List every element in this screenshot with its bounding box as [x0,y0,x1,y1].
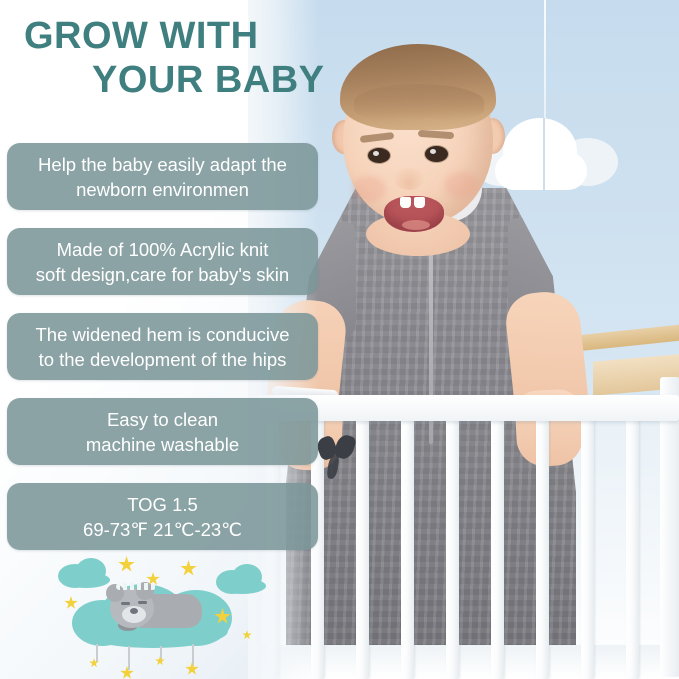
feature-text-line: The widened hem is conducive [15,322,310,347]
feature-text-line: to the development of the hips [15,347,310,372]
feature-box-washable: Easy to clean machine washable [7,398,318,465]
tog-rating: TOG 1.5 [15,492,310,517]
feature-box-material: Made of 100% Acrylic knit soft design,ca… [7,228,318,295]
feature-text-line: Easy to clean [15,407,310,432]
feature-text-line: Made of 100% Acrylic knit [15,237,310,262]
baby-nose [394,168,424,190]
feature-box-tog: TOG 1.5 69-73℉ 21℃-23℃ [7,483,318,550]
feature-text-line: newborn environmen [15,177,310,202]
feature-box-hem: The widened hem is conducive to the deve… [7,313,318,380]
feature-text-line: machine washable [15,432,310,457]
feature-box-list: Help the baby easily adapt the newborn e… [0,0,340,679]
tog-temperature-range: 69-73℉ 21℃-23℃ [15,517,310,542]
feature-box-adapt: Help the baby easily adapt the newborn e… [7,143,318,210]
feature-text-line: soft design,care for baby's skin [15,262,310,287]
infographic-canvas: GROW WITH YOUR BABY Help the baby easily… [0,0,679,679]
baby-eye-right [425,146,448,162]
feature-text-line: Help the baby easily adapt the [15,152,310,177]
baby-hair [340,44,496,130]
baby-eye-left [368,148,390,163]
baby-mouth [384,196,444,232]
